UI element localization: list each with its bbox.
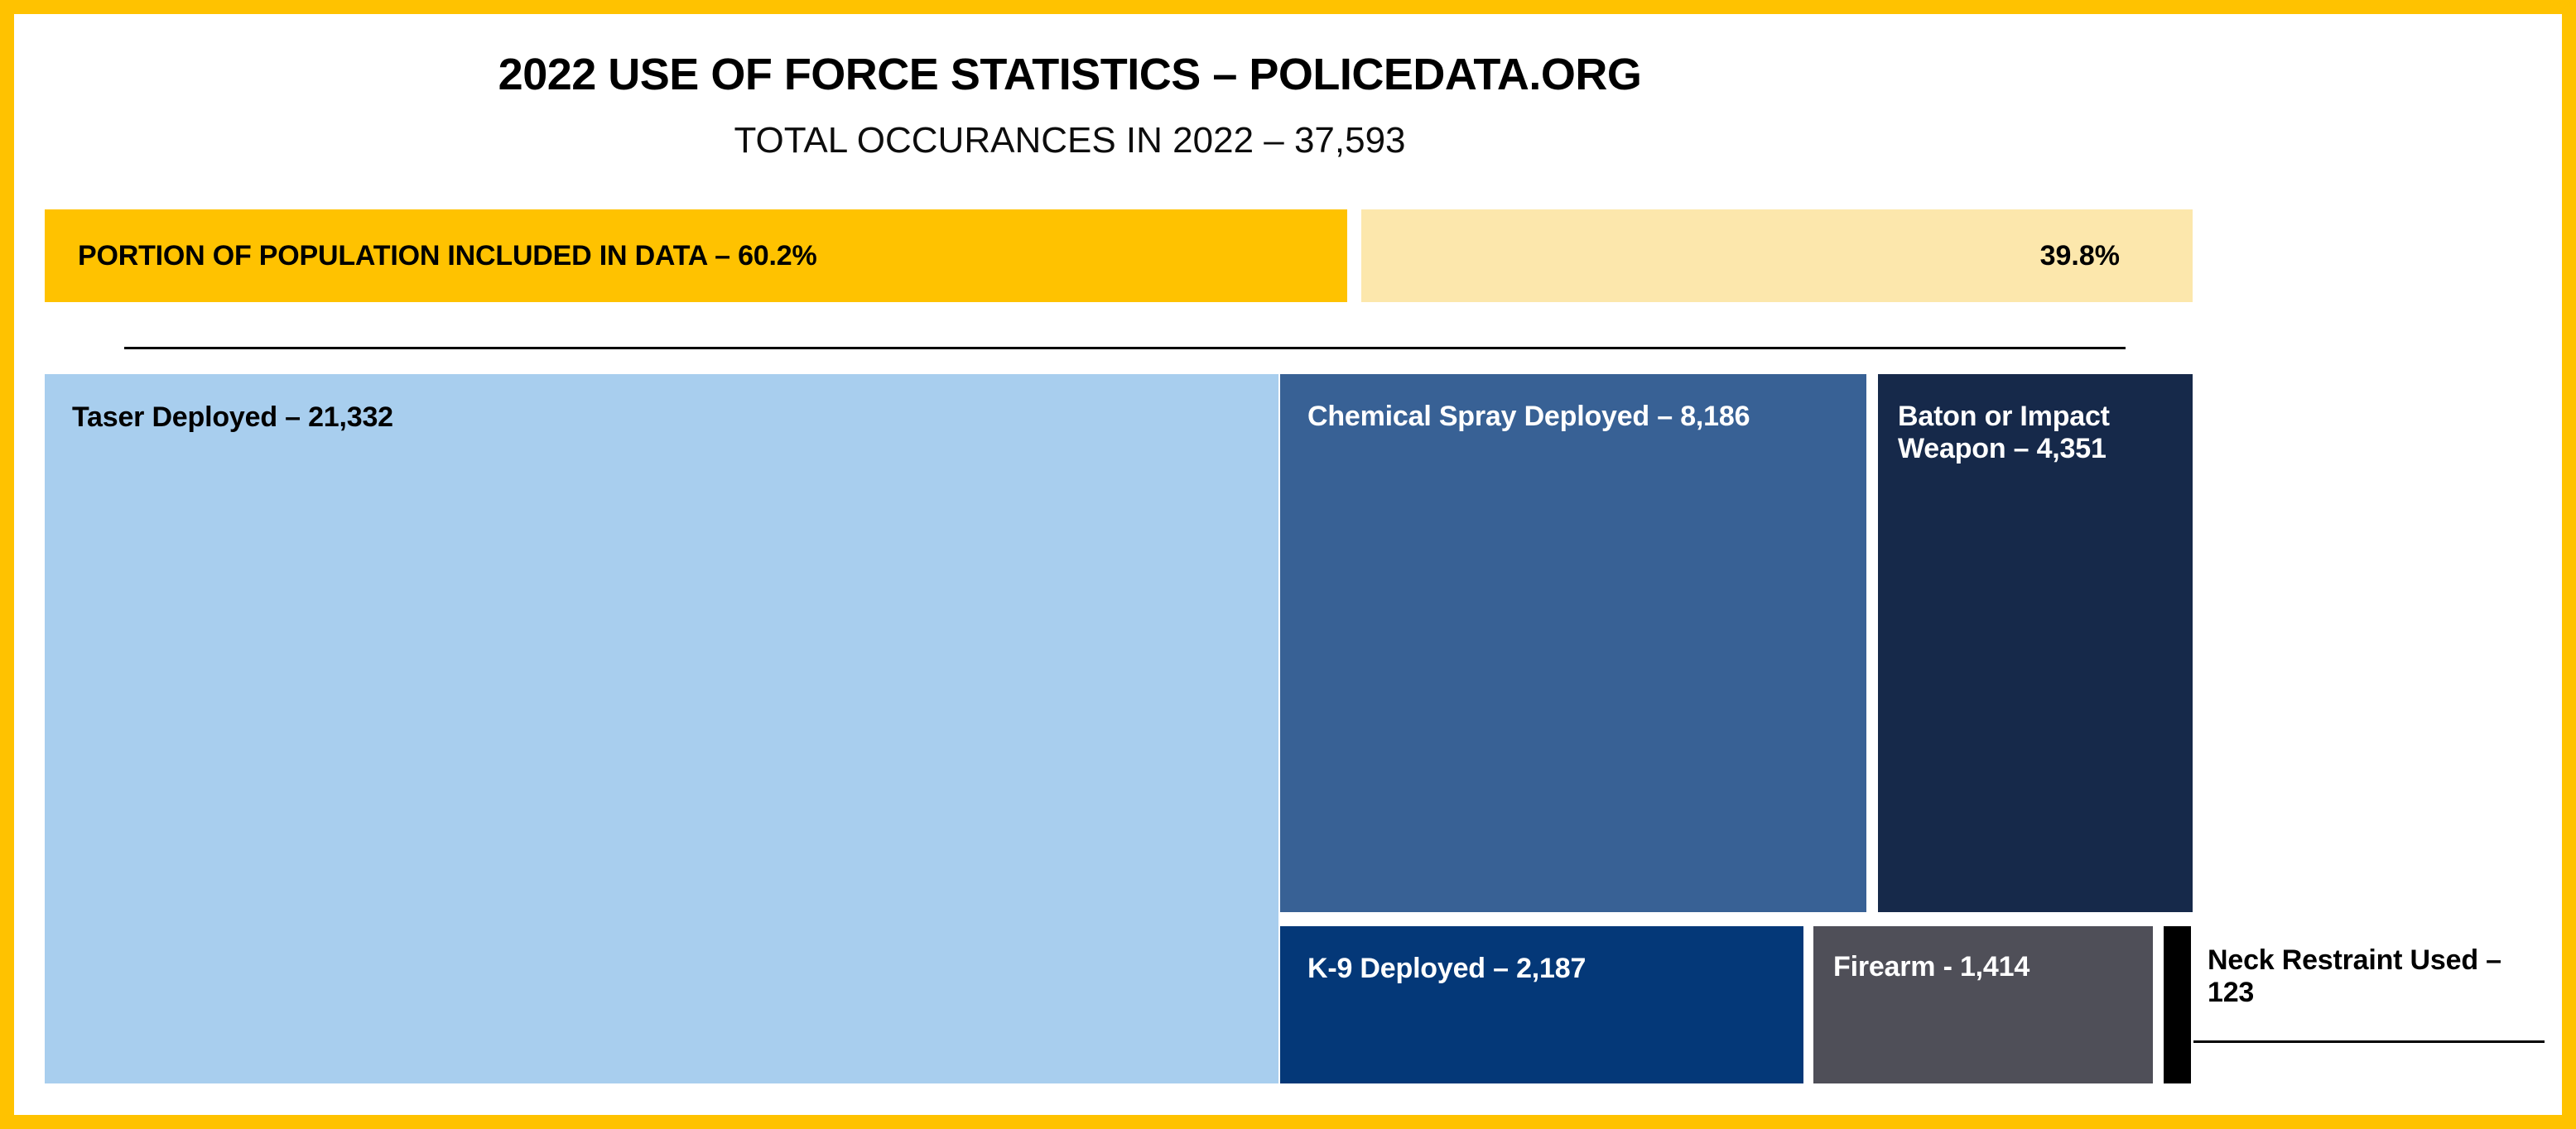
treemap-tile-neck-restraint: [2164, 926, 2191, 1083]
treemap-tile-taser: Taser Deployed – 21,332: [45, 374, 1278, 1083]
infographic-canvas: 2022 USE OF FORCE STATISTICS – POLICEDAT…: [14, 14, 2562, 1115]
treemap-tile-neck-restraint-label: Neck Restraint Used – 123: [2208, 944, 2555, 1009]
treemap-tile-chemical-spray: Chemical Spray Deployed – 8,186: [1280, 374, 1866, 912]
treemap-tile-firearm: Firearm - 1,414: [1813, 926, 2153, 1083]
treemap-tile-k9: K-9 Deployed – 2,187: [1280, 926, 1803, 1083]
treemap-tile-chemical-spray-label: Chemical Spray Deployed – 8,186: [1307, 401, 1837, 433]
use-of-force-treemap: Taser Deployed – 21,332 Chemical Spray D…: [14, 14, 2562, 1115]
treemap-tile-k9-label: K-9 Deployed – 2,187: [1307, 953, 1803, 985]
treemap-tile-baton-label: Baton or Impact Weapon – 4,351: [1898, 401, 2173, 465]
treemap-tile-firearm-label: Firearm - 1,414: [1833, 951, 2153, 983]
treemap-tile-baton: Baton or Impact Weapon – 4,351: [1878, 374, 2193, 912]
treemap-tile-taser-label: Taser Deployed – 21,332: [72, 401, 1278, 434]
neck-restraint-underline: [2193, 1040, 2545, 1043]
infographic-frame: 2022 USE OF FORCE STATISTICS – POLICEDAT…: [0, 0, 2576, 1129]
